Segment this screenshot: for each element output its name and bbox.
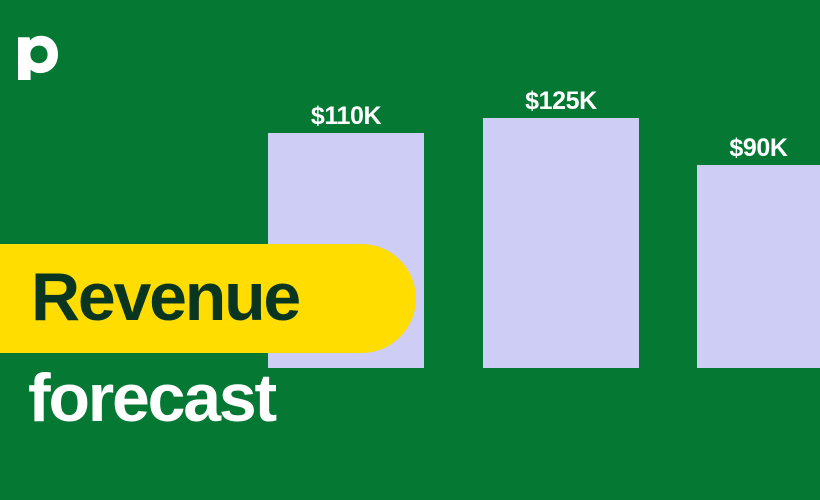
poster-canvas: $110K $125K $90K Revenue forecast <box>0 0 820 500</box>
bar-1-value-label: $110K <box>268 102 424 131</box>
headline-line-2: forecast <box>28 364 275 432</box>
bar-3 <box>697 165 820 368</box>
bar-2 <box>483 118 639 368</box>
bar-3-value-label: $90K <box>697 134 820 163</box>
headline-highlight-banner: Revenue <box>0 244 416 353</box>
bar-2-value-label: $125K <box>483 87 639 116</box>
headline-line-1: Revenue <box>0 263 299 331</box>
